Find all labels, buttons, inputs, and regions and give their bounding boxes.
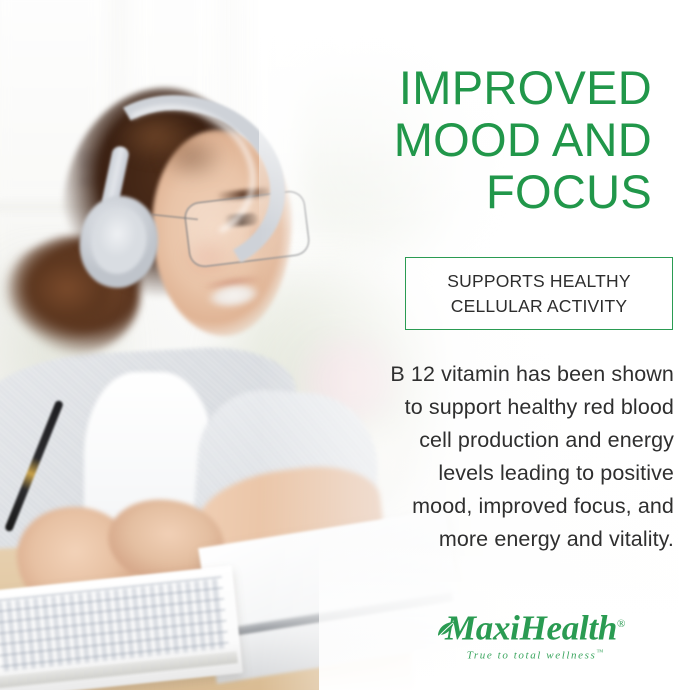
brand-wordmark: MaxiHealth® (430, 604, 640, 644)
status-badge: SUPPORTS HEALTHY CELLULAR ACTIVITY (405, 257, 673, 330)
status-badge-label: SUPPORTS HEALTHY CELLULAR ACTIVITY (447, 269, 630, 319)
leaf-icon (436, 620, 456, 638)
brand-name-health: Health (520, 609, 617, 648)
trademark-symbol: ™ (596, 648, 603, 656)
page-title: IMPROVED MOOD AND FOCUS (352, 62, 652, 218)
brand-logo: MaxiHealth® True to total wellness™ (430, 604, 640, 666)
brand-tagline: True to total wellness™ (430, 646, 640, 663)
brand-name-maxi: Maxi (445, 609, 520, 648)
brand-tagline-text: True to total wellness (467, 650, 597, 662)
registered-trademark-symbol: ® (617, 618, 625, 630)
product-marketing-poster: IMPROVED MOOD AND FOCUS SUPPORTS HEALTHY… (0, 0, 679, 690)
body-paragraph: B 12 vitamin has been shown to support h… (372, 358, 674, 556)
